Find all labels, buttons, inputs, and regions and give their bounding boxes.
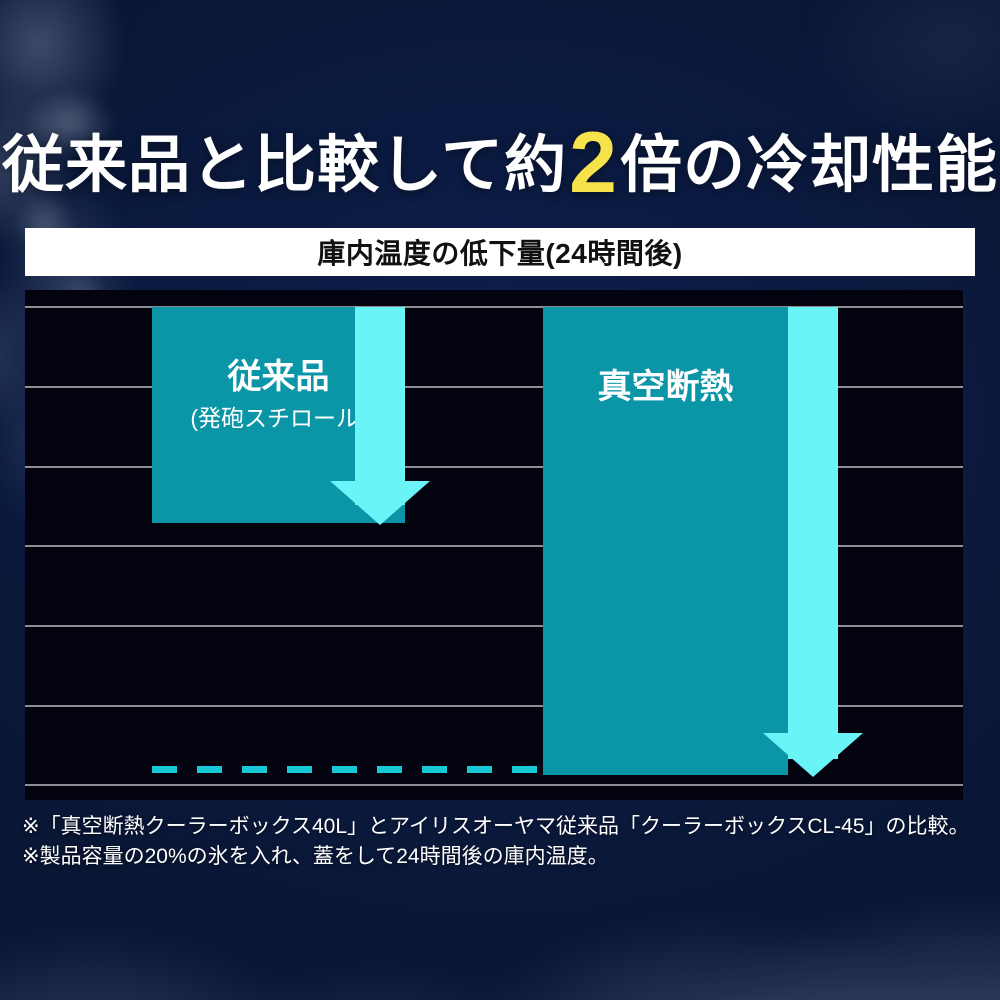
bar-vacuum: 真空断熱 — [543, 307, 788, 775]
subtitle-bar: 庫内温度の低下量(24時間後) — [25, 228, 975, 276]
infographic-canvas: 従来品と比較して約2倍の冷却性能 庫内温度の低下量(24時間後) 従来品 (発砲… — [0, 0, 1000, 1000]
down-arrow-vacuum-shaft — [788, 307, 838, 759]
headline-after: 倍の冷却性能 — [620, 131, 998, 200]
subtitle-text: 庫内温度の低下量(24時間後) — [317, 232, 682, 272]
gridline-7 — [25, 784, 963, 786]
down-arrow-conventional-shaft — [355, 307, 405, 505]
bar-vacuum-label-main: 真空断熱 — [543, 369, 788, 406]
footnotes: ※「真空断熱クーラーボックス40L」とアイリスオーヤマ従来品「クーラーボックスC… — [22, 812, 962, 873]
headline: 従来品と比較して約2倍の冷却性能 — [0, 120, 1000, 206]
chart-area: 従来品 (発砲スチロール) 真空断熱 — [25, 290, 963, 800]
footnote-line-1: ※「真空断熱クーラーボックス40L」とアイリスオーヤマ従来品「クーラーボックスC… — [22, 812, 962, 842]
headline-number: 2 — [567, 115, 620, 211]
headline-before: 従来品と比較して約 — [2, 131, 567, 200]
down-arrow-conventional-head — [330, 481, 430, 525]
reference-dashed-line — [152, 766, 544, 773]
down-arrow-vacuum-head — [763, 733, 863, 777]
footnote-line-2: ※製品容量の20%の氷を入れ、蓋をして24時間後の庫内温度。 — [22, 842, 962, 872]
